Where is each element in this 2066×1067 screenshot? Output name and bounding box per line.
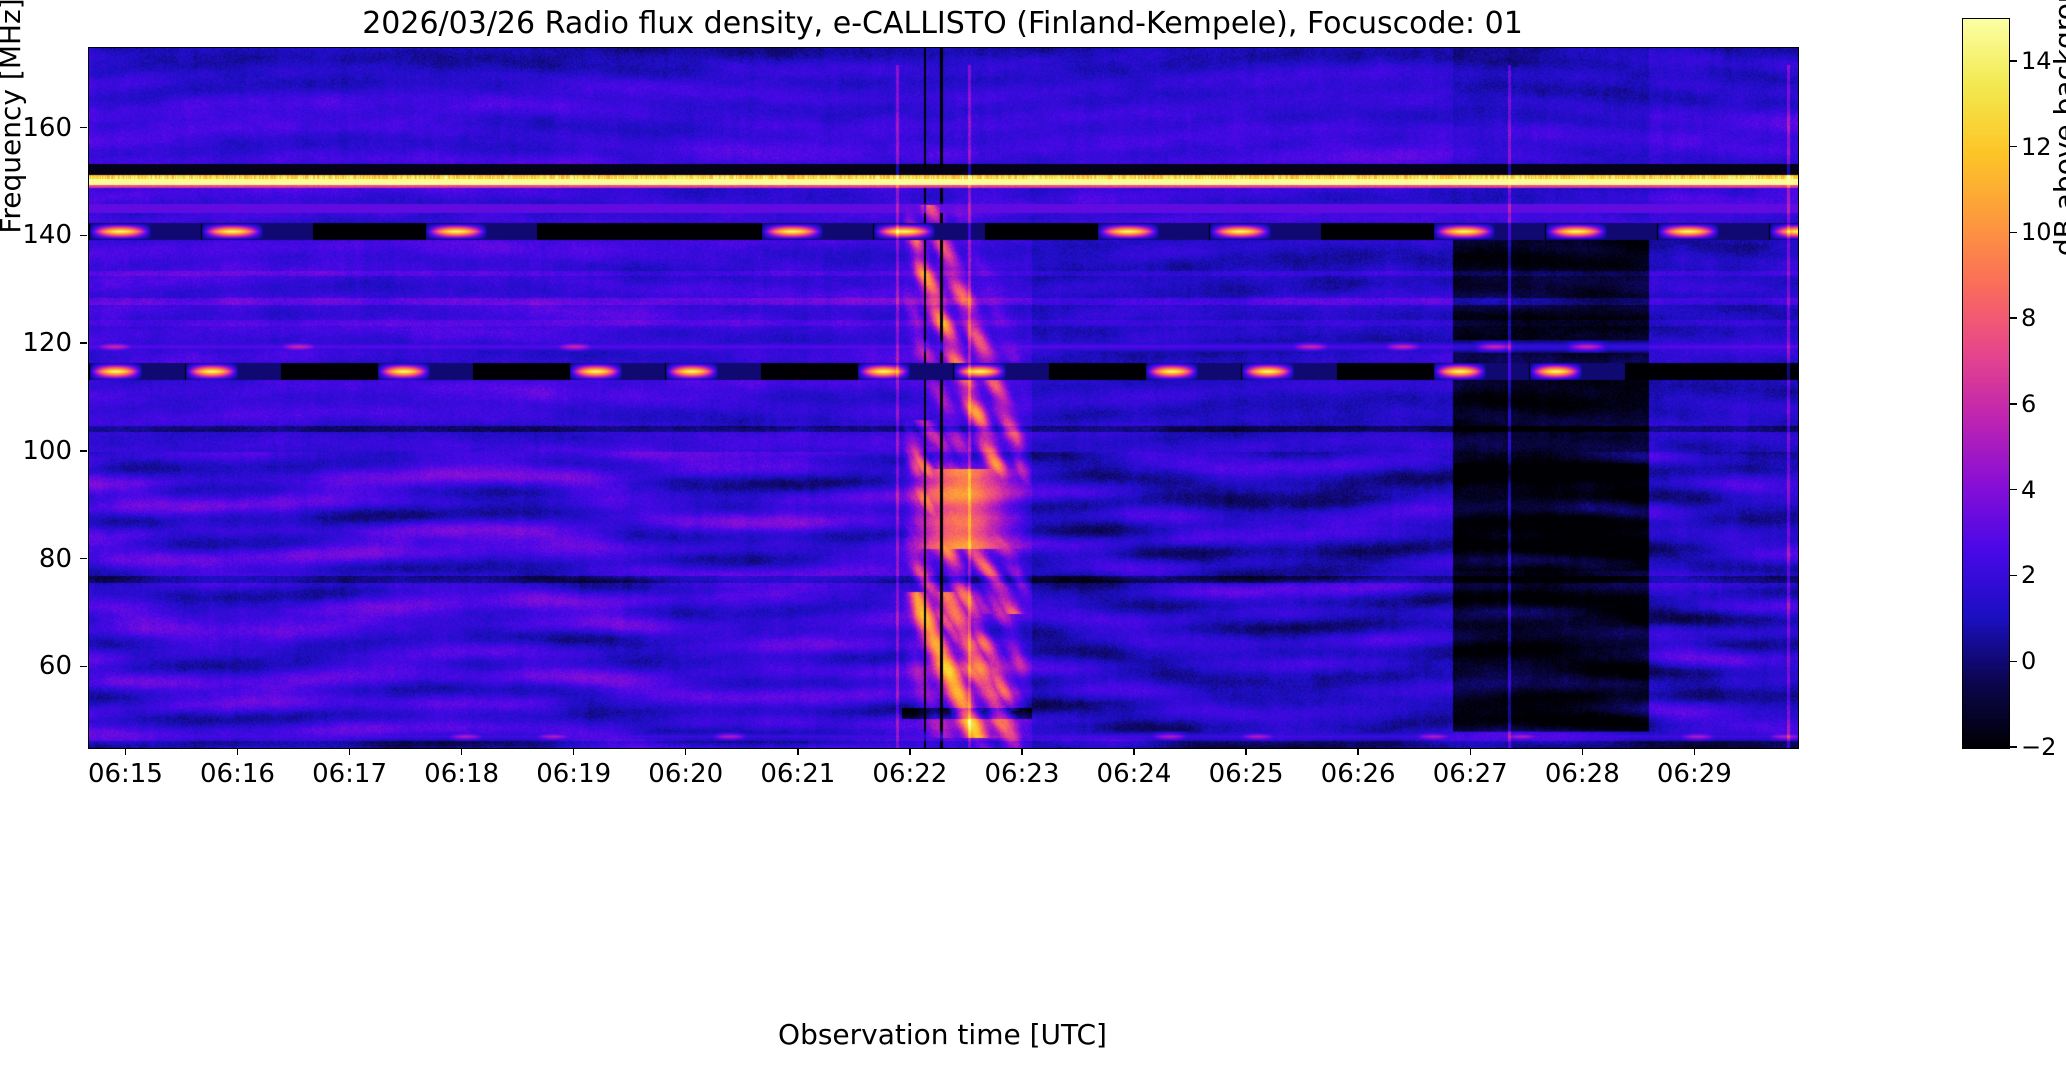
x-tick-label-06-19: 06:19: [514, 761, 634, 787]
colorbar-tick-mark-10: [2010, 232, 2017, 233]
x-tick-mark-06-15: [125, 748, 126, 755]
x-tick-mark-06-24: [1133, 748, 1134, 755]
colorbar-gradient: [1963, 19, 2009, 748]
colorbar-label: dB above background: [2048, 0, 2066, 383]
x-tick-mark-06-29: [1694, 748, 1695, 755]
colorbar-tick-label-4: 4: [2021, 478, 2036, 502]
colorbar-tick-mark-4: [2010, 489, 2017, 490]
x-tick-label-06-26: 06:26: [1298, 761, 1418, 787]
x-axis-label: Observation time [UTC]: [88, 1018, 1797, 1051]
y-tick-mark-100: [80, 450, 87, 451]
y-tick-label-60: 60: [2, 653, 72, 679]
y-tick-label-120: 120: [2, 330, 72, 356]
x-tick-mark-06-18: [461, 748, 462, 755]
colorbar-tick-label-6: 6: [2021, 392, 2036, 416]
y-tick-mark-140: [80, 235, 87, 236]
colorbar-tick-label-0: 0: [2021, 649, 2036, 673]
x-tick-mark-06-22: [909, 748, 910, 755]
x-tick-mark-06-28: [1582, 748, 1583, 755]
spectrogram-image: [89, 48, 1798, 748]
x-tick-label-06-21: 06:21: [738, 761, 858, 787]
x-tick-label-06-27: 06:27: [1410, 761, 1530, 787]
x-tick-mark-06-19: [573, 748, 574, 755]
colorbar-tick-label--2: −2: [2021, 735, 2056, 759]
x-tick-mark-06-17: [349, 748, 350, 755]
x-tick-mark-06-20: [685, 748, 686, 755]
y-tick-label-80: 80: [2, 546, 72, 572]
colorbar-tick-label-12: 12: [2021, 135, 2052, 159]
y-tick-label-140: 140: [2, 222, 72, 248]
figure-canvas: 2026/03/26 Radio flux density, e-CALLIST…: [0, 0, 2066, 1067]
x-tick-label-06-23: 06:23: [962, 761, 1082, 787]
x-tick-mark-06-21: [797, 748, 798, 755]
x-tick-label-06-22: 06:22: [850, 761, 970, 787]
x-tick-label-06-17: 06:17: [290, 761, 410, 787]
x-tick-mark-06-23: [1021, 748, 1022, 755]
y-tick-mark-160: [80, 127, 87, 128]
colorbar-tick-mark--2: [2010, 746, 2017, 747]
x-tick-label-06-24: 06:24: [1074, 761, 1194, 787]
colorbar-tick-mark-8: [2010, 317, 2017, 318]
y-tick-mark-60: [80, 666, 87, 667]
x-tick-label-06-18: 06:18: [402, 761, 522, 787]
y-tick-mark-80: [80, 558, 87, 559]
x-tick-mark-06-16: [237, 748, 238, 755]
colorbar-tick-mark-6: [2010, 403, 2017, 404]
y-tick-mark-120: [80, 342, 87, 343]
colorbar-tick-mark-2: [2010, 575, 2017, 576]
colorbar-tick-mark-0: [2010, 661, 2017, 662]
colorbar-tick-mark-12: [2010, 146, 2017, 147]
x-tick-mark-06-27: [1470, 748, 1471, 755]
spectrogram-axes[interactable]: [88, 47, 1799, 749]
colorbar[interactable]: [1962, 18, 2010, 749]
y-tick-label-100: 100: [2, 438, 72, 464]
x-tick-label-06-15: 06:15: [65, 761, 185, 787]
x-tick-label-06-25: 06:25: [1186, 761, 1306, 787]
x-tick-label-06-16: 06:16: [177, 761, 297, 787]
colorbar-tick-label-8: 8: [2021, 306, 2036, 330]
y-tick-label-160: 160: [2, 115, 72, 141]
colorbar-tick-label-14: 14: [2021, 49, 2052, 73]
colorbar-tick-label-2: 2: [2021, 563, 2036, 587]
colorbar-tick-label-10: 10: [2021, 220, 2052, 244]
x-tick-mark-06-26: [1357, 748, 1358, 755]
x-tick-label-06-29: 06:29: [1634, 761, 1754, 787]
x-tick-mark-06-25: [1245, 748, 1246, 755]
colorbar-tick-mark-14: [2010, 60, 2017, 61]
x-tick-label-06-28: 06:28: [1522, 761, 1642, 787]
figure-title: 2026/03/26 Radio flux density, e-CALLIST…: [88, 4, 1797, 42]
x-tick-label-06-20: 06:20: [626, 761, 746, 787]
